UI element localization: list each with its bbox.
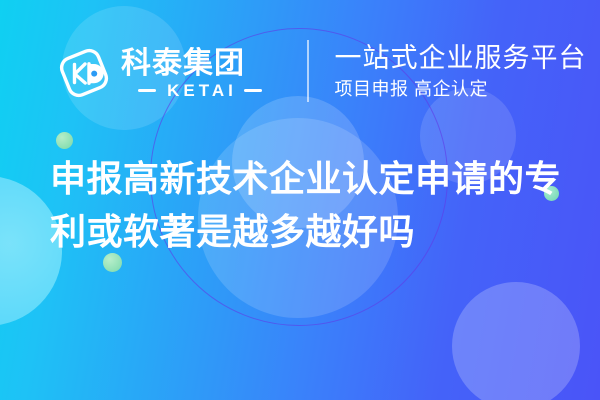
brand-rule-right	[244, 89, 262, 92]
brand-wordmark: 科泰集团 KETAI	[121, 47, 279, 99]
brand-name-cn-wrap: 科泰集团	[121, 47, 279, 79]
banner-headline: 申报高新技术企业认定申请的专 利或软著是越多越好吗	[50, 152, 570, 259]
headline-line-1: 申报高新技术企业认定申请的专	[50, 152, 570, 205]
brand-name-cn-art: 科泰集团	[121, 47, 279, 79]
brand-name-en-row: KETAI	[121, 82, 279, 99]
brand-name-cn: 科泰集团	[121, 47, 245, 79]
tagline-main: 一站式企业服务平台	[335, 43, 587, 73]
header-divider	[307, 40, 309, 102]
brand-lockup: 科泰集团 KETAI	[56, 45, 279, 101]
light-blue-circle-bottom-right-shape	[452, 282, 580, 400]
brand-name-en: KETAI	[163, 82, 237, 99]
promo-banner: 科泰集团 KETAI 一站式企业服务平台 项目申报 高企认定 申报高新技术企业认…	[0, 0, 600, 400]
banner-header: 科泰集团 KETAI 一站式企业服务平台 项目申报 高企认定	[0, 0, 600, 140]
tagline-block: 一站式企业服务平台 项目申报 高企认定	[335, 43, 587, 101]
headline-line-2: 利或软著是越多越好吗	[50, 205, 570, 258]
brand-rule-left	[138, 89, 156, 92]
ketai-diamond-monogram-icon	[56, 45, 112, 101]
tagline-sub: 项目申报 高企认定	[335, 78, 587, 101]
